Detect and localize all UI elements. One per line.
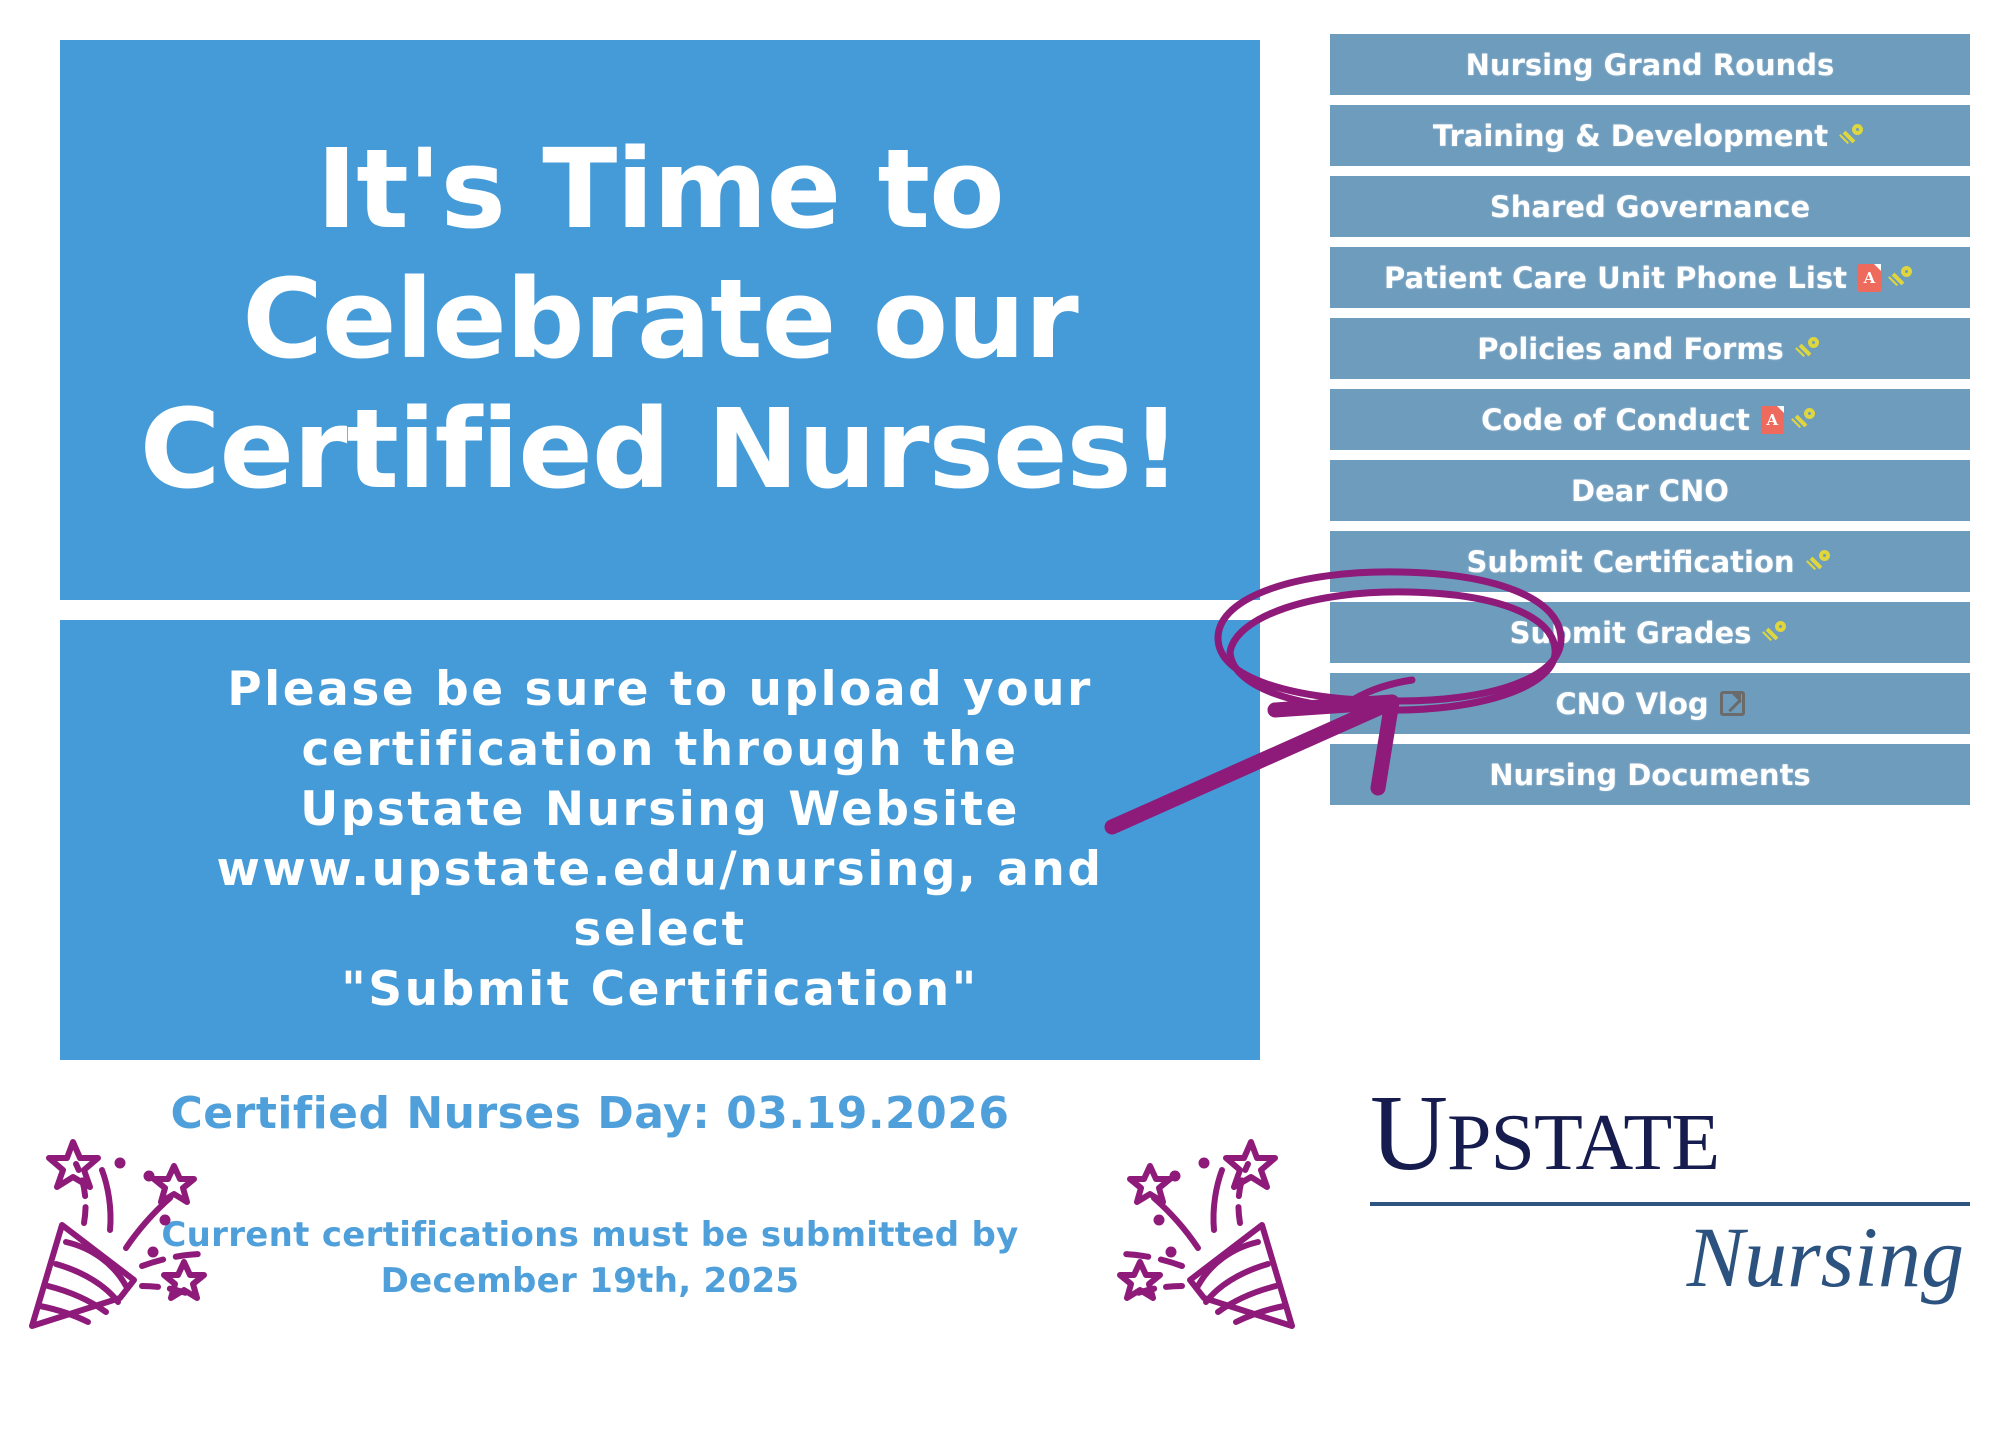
menu-item-badges: A	[1858, 264, 1916, 292]
pdf-icon: A	[1858, 264, 1881, 292]
key-icon	[1795, 335, 1823, 363]
menu-item-label: Submit Grades	[1510, 616, 1752, 650]
menu-item-badges	[1795, 335, 1823, 363]
menu-item-label: Training & Development	[1433, 119, 1828, 153]
key-icon	[1791, 406, 1819, 434]
menu-item-nursing-grand-rounds[interactable]: Nursing Grand Rounds	[1330, 34, 1970, 95]
poster-left-column: It's Time to Celebrate our Certified Nur…	[0, 0, 1305, 1429]
menu-item-submit-certification[interactable]: Submit Certification	[1330, 531, 1970, 592]
menu-item-badges	[1720, 691, 1745, 716]
menu-item-cno-vlog[interactable]: CNO Vlog	[1330, 673, 1970, 734]
menu-item-label: Shared Governance	[1490, 190, 1810, 224]
pdf-icon: A	[1761, 406, 1784, 434]
logo-letters-pstate: PSTATE	[1447, 1099, 1719, 1187]
instructions-panel: Please be sure to upload your certificat…	[60, 620, 1260, 1060]
key-icon	[1888, 264, 1916, 292]
party-popper-icon	[1082, 1130, 1302, 1360]
logo-wordmark-nursing: Nursing	[1370, 1212, 1970, 1302]
menu-item-badges: A	[1761, 406, 1819, 434]
menu-item-label: Submit Certification	[1466, 545, 1794, 579]
key-icon	[1762, 619, 1790, 647]
menu-item-policies-and-forms[interactable]: Policies and Forms	[1330, 318, 1970, 379]
menu-item-patient-care-unit-phone-list[interactable]: Patient Care Unit Phone List A	[1330, 247, 1970, 308]
menu-item-badges	[1762, 619, 1790, 647]
menu-item-label: Policies and Forms	[1477, 332, 1784, 366]
logo-wordmark-upstate: UPSTATE	[1370, 1080, 1970, 1188]
menu-item-code-of-conduct[interactable]: Code of Conduct A	[1330, 389, 1970, 450]
menu-item-dear-cno[interactable]: Dear CNO	[1330, 460, 1970, 521]
headline-panel: It's Time to Celebrate our Certified Nur…	[60, 40, 1260, 600]
party-popper-icon	[22, 1130, 242, 1360]
external-link-icon	[1720, 691, 1745, 716]
menu-item-badges	[1806, 548, 1834, 576]
menu-item-submit-grades[interactable]: Submit Grades	[1330, 602, 1970, 663]
menu-item-shared-governance[interactable]: Shared Governance	[1330, 176, 1970, 237]
logo-divider-rule	[1370, 1202, 1970, 1206]
menu-item-label: Dear CNO	[1571, 474, 1729, 508]
menu-item-badges	[1839, 122, 1867, 150]
menu-item-label: CNO Vlog	[1555, 687, 1708, 721]
menu-item-training-and-development[interactable]: Training & Development	[1330, 105, 1970, 166]
key-icon	[1806, 548, 1834, 576]
menu-item-label: Nursing Grand Rounds	[1466, 48, 1835, 82]
menu-item-label: Code of Conduct	[1481, 403, 1750, 437]
menu-item-nursing-documents[interactable]: Nursing Documents	[1330, 744, 1970, 805]
upstate-nursing-logo: UPSTATE Nursing	[1370, 1080, 1970, 1302]
nursing-site-menu: Nursing Grand Rounds Training & Developm…	[1330, 34, 1970, 815]
instructions-text: Please be sure to upload your certificat…	[186, 660, 1133, 1021]
key-icon	[1839, 122, 1867, 150]
menu-item-label: Patient Care Unit Phone List	[1384, 261, 1847, 295]
page-title: It's Time to Celebrate our Certified Nur…	[100, 125, 1220, 514]
menu-item-label: Nursing Documents	[1489, 758, 1810, 792]
logo-letter-u: U	[1370, 1074, 1447, 1193]
